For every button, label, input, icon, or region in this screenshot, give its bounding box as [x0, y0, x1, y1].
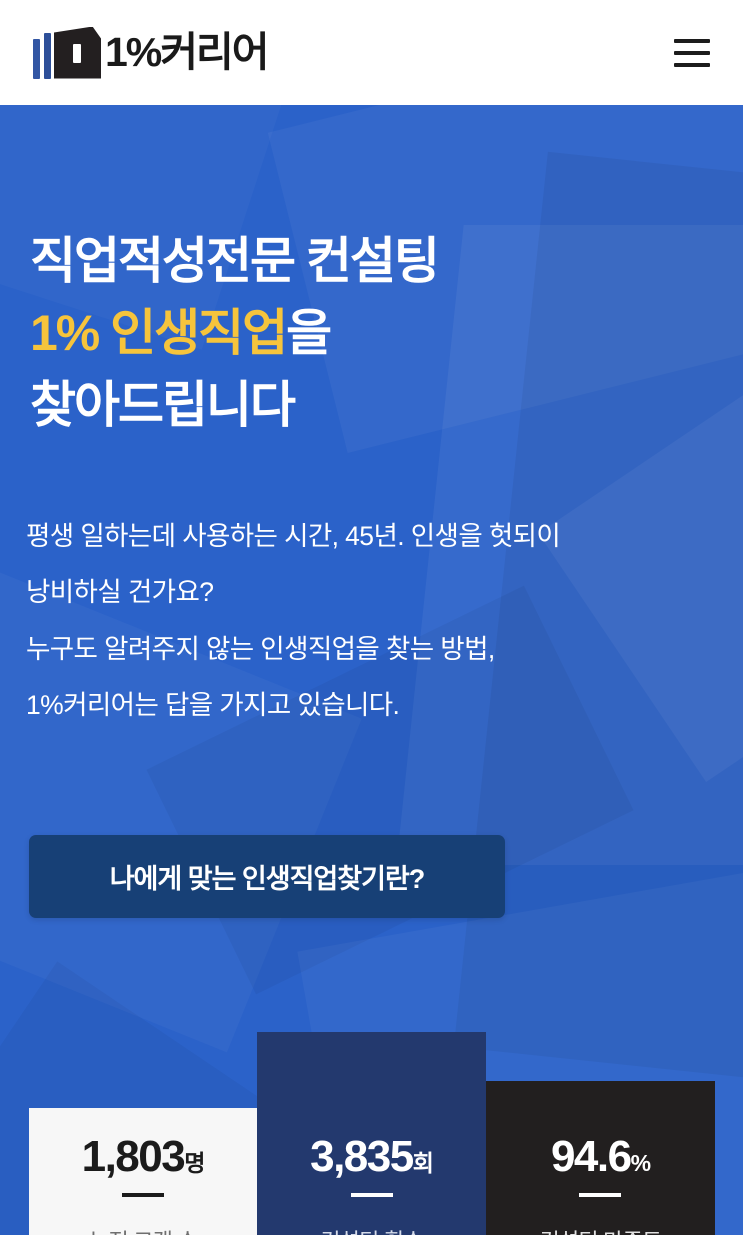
- stat-value-row: 3,835 회: [310, 1135, 433, 1179]
- stat-value: 94.6: [551, 1135, 631, 1179]
- headline-line-3: 찾아드립니다: [30, 369, 690, 441]
- landing-page: 1%커리어 직업적성전문 컨설팅 1% 인생직업을 찾아드립니다 평생 일하는데…: [0, 0, 743, 1235]
- site-header: 1%커리어: [0, 0, 743, 105]
- stat-divider: [579, 1193, 621, 1197]
- stat-label: 누적 고객 수: [89, 1224, 197, 1235]
- stat-unit: 명: [184, 1144, 204, 1178]
- site-logo[interactable]: 1%커리어: [33, 25, 267, 81]
- headline-line-2: 1% 인생직업을: [30, 297, 690, 369]
- hero-section: 직업적성전문 컨설팅 1% 인생직업을 찾아드립니다 평생 일하는데 사용하는 …: [0, 105, 743, 1235]
- stats-section: 1,803 명 누적 고객 수 3,835 회 컨설팅 횟수: [0, 1020, 743, 1235]
- stat-value-row: 94.6 %: [551, 1135, 650, 1179]
- logo-bar-mid: [44, 33, 51, 79]
- stat-card-customers: 1,803 명 누적 고객 수: [29, 1108, 257, 1235]
- stat-card-sessions: 3,835 회 컨설팅 횟수: [257, 1032, 486, 1235]
- hero-headline: 직업적성전문 컨설팅 1% 인생직업을 찾아드립니다: [30, 225, 690, 441]
- book-building-icon: [33, 25, 101, 81]
- stat-unit: 회: [413, 1144, 433, 1178]
- logo-slot-shape: [73, 44, 81, 63]
- hamburger-bar-1: [674, 39, 710, 43]
- stat-value: 3,835: [310, 1135, 413, 1179]
- headline-line-2-suffix: 을: [286, 305, 330, 361]
- stat-unit: %: [631, 1150, 650, 1177]
- stat-divider: [351, 1193, 393, 1197]
- headline-line-1: 직업적성전문 컨설팅: [30, 225, 690, 297]
- hamburger-menu-icon[interactable]: [671, 36, 713, 70]
- subcopy-line-1: 평생 일하는데 사용하는 시간, 45년. 인생을 헛되이: [26, 508, 716, 564]
- subcopy-line-2: 낭비하실 건가요?: [26, 564, 716, 620]
- logo-bar-left: [33, 39, 40, 79]
- hero-subcopy: 평생 일하는데 사용하는 시간, 45년. 인생을 헛되이 낭비하실 건가요? …: [26, 508, 716, 734]
- stat-card-satisfaction: 94.6 % 컨설팅 만족도: [486, 1081, 715, 1235]
- subcopy-line-4: 1%커리어는 답을 가지고 있습니다.: [26, 677, 716, 733]
- stat-divider: [122, 1193, 164, 1197]
- hamburger-bar-3: [674, 63, 710, 67]
- cta-button[interactable]: 나에게 맞는 인생직업찾기란?: [29, 835, 505, 918]
- stat-label: 컨설팅 횟수: [320, 1224, 423, 1235]
- logo-text: 1%커리어: [105, 32, 267, 73]
- stat-value-row: 1,803 명: [82, 1135, 205, 1179]
- headline-accent: 1% 인생직업: [30, 305, 286, 361]
- stat-value: 1,803: [82, 1135, 185, 1179]
- stat-label: 컨설팅 만족도: [540, 1224, 662, 1235]
- hamburger-bar-2: [674, 51, 710, 55]
- subcopy-line-3: 누구도 알려주지 않는 인생직업을 찾는 방법,: [26, 621, 716, 677]
